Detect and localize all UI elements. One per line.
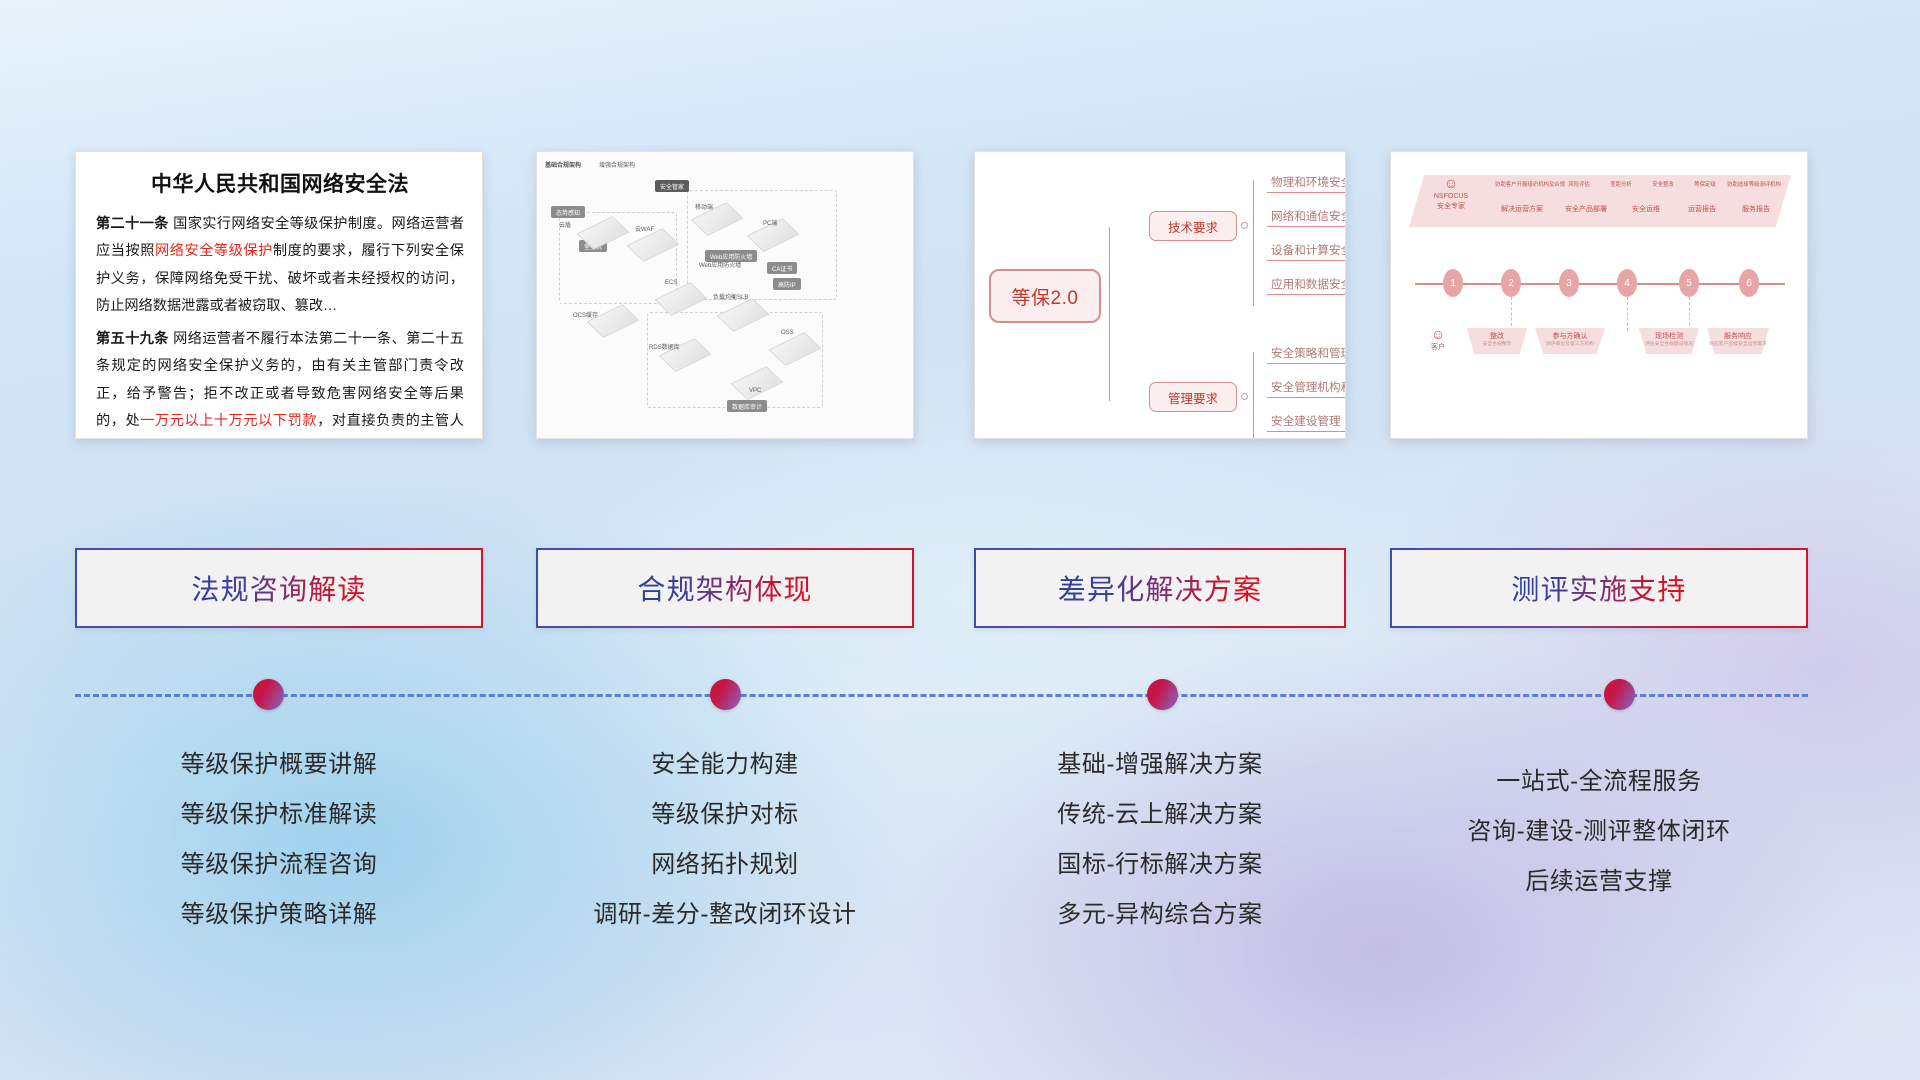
nsfocus-brand: NSFOCUS: [1434, 193, 1468, 200]
arch-tab-basic: 基础合规架构: [545, 160, 581, 169]
mindmap-branch-management: 管理要求: [1149, 382, 1237, 412]
list-item: 等级保护概要讲解: [75, 740, 483, 790]
arch-label-oss: OSS: [781, 330, 794, 336]
nsfocus-header-cell-6: 协助选择等级测评机构: [1727, 180, 1771, 188]
nsfocus-step-3: 3: [1559, 269, 1579, 297]
arch-label-web-firewall: Web应用防火墙: [699, 260, 741, 269]
list-item: 调研-差分-整改闭环设计: [536, 890, 914, 940]
nsfocus-service-cell-3: 安全运维: [1621, 204, 1671, 214]
banner-label: 测评实施支持: [1511, 568, 1686, 608]
banner-differentiated-solution[interactable]: 差异化解决方案: [974, 548, 1346, 628]
nsfocus-bottom-title-3: 参与方确认: [1553, 333, 1588, 340]
arch-label-slb: 负载均衡SLB: [713, 292, 748, 301]
nsfocus-dash-3: [1689, 297, 1690, 331]
nsfocus-header-cell-5: 等保定级: [1685, 180, 1725, 188]
arch-label-pc: PC端: [763, 218, 777, 227]
arch-label-cloudshield: 云盾: [559, 220, 571, 229]
nsfocus-bottom-title-1: 客户: [1431, 344, 1445, 351]
list-item: 一站式-全流程服务: [1390, 757, 1808, 807]
law-paragraph-1: 第二十一条 国家实行网络安全等级保护制度。网络运营者应当按照网络安全等级保护制度…: [96, 211, 464, 320]
card-mindmap[interactable]: 等保2.0 技术要求 管理要求 物理和环境安全 网络和通信安全 设备和计算安全 …: [974, 151, 1346, 439]
column-differentiated-solution: 基础-增强解决方案 传统-云上解决方案 国标-行标解决方案 多元-异构综合方案: [974, 740, 1346, 940]
nsfocus-bottom-box-3: 参与方确认 测评单位及第三方机构: [1535, 332, 1605, 349]
mindmap-spine-tech-lower: [1253, 228, 1254, 306]
mindmap-collapse-dot-mgmt[interactable]: [1241, 393, 1248, 400]
nsfocus-bottom-sub-4: 评估安全合规建设情况: [1639, 342, 1699, 349]
nsfocus-bottom-title-5: 服务响应: [1724, 333, 1752, 340]
law-paragraph-2: 第五十九条 网络运营者不履行本法第二十一条、第二十五条规定的网络安全保护义务的，…: [96, 326, 464, 439]
list-item: 传统-云上解决方案: [974, 790, 1346, 840]
banner-compliance-architecture[interactable]: 合规架构体现: [536, 548, 914, 628]
nsfocus-service-cell-1: 解决运营方案: [1491, 204, 1553, 214]
nsfocus-step-5: 5: [1679, 269, 1699, 297]
nsfocus-service-cell-5: 服务报告: [1731, 204, 1781, 214]
list-item: 后续运营支撑: [1390, 857, 1808, 907]
nsfocus-header-cell-2: 风险评估: [1559, 180, 1599, 188]
law-content: 中华人民共和国网络安全法 第二十一条 国家实行网络安全等级保护制度。网络运营者应…: [76, 152, 482, 439]
mindmap-connector-tech: [1109, 227, 1110, 297]
client-icon: ☺: [1411, 327, 1465, 341]
arch-chip-anti-ddos: 高防IP: [773, 278, 801, 290]
mindmap-leaf-policy: 安全策略和管理制度: [1267, 345, 1346, 364]
list-item: 等级保护标准解读: [75, 790, 483, 840]
arch-label-ocs: OCS缓存: [573, 310, 598, 319]
timeline-dot-3[interactable]: [1147, 679, 1178, 710]
arch-chip-security-butler: 安全管家: [655, 180, 689, 192]
law-run-highlight: 一万元以上十万元以下罚款: [140, 413, 317, 429]
nsfocus-bottom-box-5: 服务响应 响应客户后续安全运营需求: [1707, 332, 1769, 349]
timeline-dot-2[interactable]: [710, 679, 741, 710]
arch-chip-ca: CA证书: [767, 262, 797, 274]
law-article-label-1: 第二十一条: [96, 216, 169, 232]
nsfocus-step-1: 1: [1443, 269, 1463, 297]
arch-label-vpc: VPC: [749, 388, 761, 394]
nsfocus-bottom-title-2: 整改: [1490, 333, 1504, 340]
nsfocus-header-cell-1: 协助客户开展组织机构及合规: [1495, 180, 1557, 188]
mindmap-collapse-dot-tech[interactable]: [1241, 222, 1248, 229]
list-item: 等级保护对标: [536, 790, 914, 840]
column-regulation-consulting: 等级保护概要讲解 等级保护标准解读 等级保护流程咨询 等级保护策略详解: [75, 740, 483, 940]
banner-evaluation-support[interactable]: 测评实施支持: [1390, 548, 1808, 628]
banner-label: 合规架构体现: [637, 568, 812, 608]
list-item: 多元-异构综合方案: [974, 890, 1346, 940]
column-compliance-architecture: 安全能力构建 等级保护对标 网络拓扑规划 调研-差分-整改闭环设计: [536, 740, 914, 940]
arch-tab-enhanced: 增强合规架构: [599, 160, 635, 169]
list-item: 网络拓扑规划: [536, 840, 914, 890]
list-item: 安全能力构建: [536, 740, 914, 790]
mindmap-diagram: 等保2.0 技术要求 管理要求 物理和环境安全 网络和通信安全 设备和计算安全 …: [975, 152, 1345, 438]
nsfocus-header-cell-4: 安全整改: [1643, 180, 1683, 188]
timeline-dot-4[interactable]: [1604, 679, 1635, 710]
mindmap-leaf-device: 设备和计算安全: [1267, 242, 1346, 261]
mindmap-connector-mgmt: [1109, 297, 1110, 401]
nsfocus-dash-1: [1511, 297, 1512, 331]
list-item: 基础-增强解决方案: [974, 740, 1346, 790]
nsfocus-step-6: 6: [1739, 269, 1759, 297]
mindmap-leaf-build: 安全建设管理: [1267, 413, 1345, 432]
banner-label: 差异化解决方案: [1058, 568, 1262, 608]
list-item: 咨询-建设-测评整体闭环: [1390, 807, 1808, 857]
nsfocus-bottom-sub-3: 测评单位及第三方机构: [1535, 342, 1605, 349]
nsfocus-client-badge: ☺ 客户: [1411, 327, 1465, 379]
nsfocus-step-4: 4: [1617, 269, 1637, 297]
arch-label-mobile: 移动端: [695, 202, 713, 211]
nsfocus-diagram: ☺ NSFOCUS 安全专家 协助客户开展组织机构及合规 风险评估 差距分析 安…: [1391, 152, 1807, 438]
nsfocus-expert-badge: ☺ NSFOCUS 安全专家: [1411, 176, 1491, 228]
list-item: 国标-行标解决方案: [974, 840, 1346, 890]
timeline-dashed-line: [75, 694, 1808, 697]
nsfocus-dash-2: [1627, 297, 1628, 331]
mindmap-branch-technical: 技术要求: [1149, 211, 1237, 241]
list-item: 等级保护流程咨询: [75, 840, 483, 890]
nsfocus-bottom-title-4: 现场检测: [1655, 333, 1683, 340]
nsfocus-service-cell-4: 运营报告: [1677, 204, 1727, 214]
person-icon: ☺: [1411, 176, 1491, 190]
nsfocus-timeline-axis: [1415, 283, 1785, 285]
arch-label-cloudwaf: 云WAF: [635, 224, 654, 233]
arch-node-ecs-plate: [655, 282, 708, 316]
mindmap-leaf-org: 安全管理机构和人员: [1267, 379, 1346, 398]
law-run-highlight: 网络安全等级保护: [155, 243, 273, 259]
architecture-diagram: 基础合规架构 增强合规架构 安全管家 Web应用防火墙 CA证书 高防IP 堡垒…: [537, 152, 913, 438]
card-law-document[interactable]: 中华人民共和国网络安全法 第二十一条 国家实行网络安全等级保护制度。网络运营者应…: [75, 151, 483, 439]
nsfocus-bottom-sub-5: 响应客户后续安全运营需求: [1707, 342, 1769, 349]
mindmap-leaf-physical: 物理和环境安全: [1267, 174, 1346, 193]
card-nsfocus-timeline[interactable]: ☺ NSFOCUS 安全专家 协助客户开展组织机构及合规 风险评估 差距分析 安…: [1390, 151, 1808, 439]
nsfocus-bottom-box-2: 整改 安全合规整改: [1467, 332, 1527, 349]
arch-chip-db-audit: 数据库审计: [727, 400, 767, 412]
nsfocus-bottom-sub-2: 安全合规整改: [1467, 342, 1527, 349]
arch-chip-situational: 态势感知: [551, 206, 585, 218]
list-item: 等级保护策略详解: [75, 890, 483, 940]
mindmap-leaf-network: 网络和通信安全: [1267, 208, 1346, 227]
thumbnail-row: 中华人民共和国网络安全法 第二十一条 国家实行网络安全等级保护制度。网络运营者应…: [0, 0, 1920, 450]
mindmap-spine-mgmt-lower: [1253, 400, 1254, 439]
law-title: 中华人民共和国网络安全法: [96, 168, 464, 198]
mindmap-root-node: 等保2.0: [989, 269, 1101, 323]
nsfocus-step-2: 2: [1501, 269, 1521, 297]
timeline-dot-1[interactable]: [253, 679, 284, 710]
law-article-label-2: 第五十九条: [96, 331, 169, 347]
mindmap-leaf-app-data: 应用和数据安全: [1267, 276, 1346, 295]
nsfocus-service-cell-2: 安全产品部署: [1555, 204, 1617, 214]
arch-label-ecs: ECS: [665, 280, 677, 286]
banner-label: 法规咨询解读: [191, 568, 366, 608]
nsfocus-brand-sub: 安全专家: [1437, 203, 1465, 210]
card-cloud-architecture[interactable]: 基础合规架构 增强合规架构 安全管家 Web应用防火墙 CA证书 高防IP 堡垒…: [536, 151, 914, 439]
banner-regulation-consulting[interactable]: 法规咨询解读: [75, 548, 483, 628]
nsfocus-header-cell-3: 差距分析: [1601, 180, 1641, 188]
column-evaluation-support: 一站式-全流程服务 咨询-建设-测评整体闭环 后续运营支撑: [1390, 757, 1808, 907]
nsfocus-bottom-box-4: 现场检测 评估安全合规建设情况: [1639, 332, 1699, 349]
arch-label-rds: RDS数据库: [649, 342, 680, 351]
